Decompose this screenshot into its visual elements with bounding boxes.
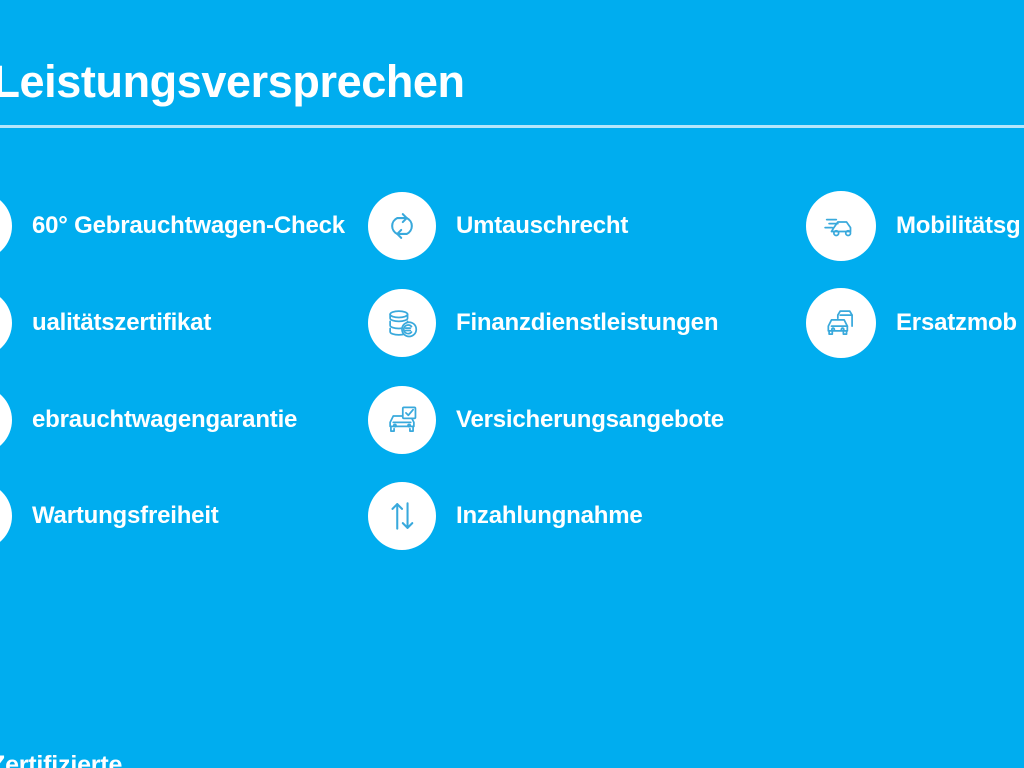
certified-line-1: Zertifizierte [0, 750, 410, 768]
list-item[interactable]: ualitätszertifikat [0, 288, 211, 358]
benefits-grid: 360 60° Gebrauchtwagen-Check ualitätszer… [0, 128, 1024, 768]
slide-canvas: ere Leistungsversprechen 360 60° Gebrauc… [0, 0, 1024, 768]
exchange-arrows-icon [368, 192, 436, 260]
list-item-label: Inzahlungnahme [456, 501, 643, 531]
car-check-document-icon [368, 386, 436, 454]
list-item[interactable]: Wartungsfreiheit [0, 481, 219, 551]
list-item[interactable]: Versicherungsangebote [368, 385, 724, 455]
car-speed-icon [806, 191, 876, 261]
list-item[interactable]: 360 60° Gebrauchtwagen-Check [0, 191, 345, 261]
list-item[interactable]: Ersatzmob [806, 288, 1017, 358]
list-item[interactable]: Finanzdienstleistungen [368, 288, 718, 358]
list-item[interactable]: Mobilitätsg [806, 191, 1020, 261]
list-item-label: 60° Gebrauchtwagen-Check [32, 211, 345, 241]
list-item-label: Versicherungsangebote [456, 405, 724, 435]
list-item-label: Ersatzmob [896, 308, 1017, 338]
list-item-label: ebrauchtwagengarantie [32, 405, 297, 435]
wrench-icon [0, 482, 12, 550]
magnifier-360-icon: 360 [0, 192, 12, 260]
list-item[interactable]: Umtauschrecht [368, 191, 628, 261]
list-item-label: Finanzdienstleistungen [456, 308, 718, 338]
up-down-arrows-icon [368, 482, 436, 550]
shield-car-icon [0, 386, 12, 454]
list-item-label: Wartungsfreiheit [32, 501, 219, 531]
header: ere Leistungsversprechen [0, 0, 1024, 128]
list-item[interactable]: ebrauchtwagengarantie [0, 385, 297, 455]
list-item-label: Mobilitätsg [896, 211, 1020, 241]
certificate-icon [0, 289, 12, 357]
certified-used-cars-block: Zertifizierte Gebrauchtwagen [0, 750, 410, 768]
list-item-label: Umtauschrecht [456, 211, 628, 241]
list-item-label: ualitätszertifikat [32, 308, 211, 338]
coins-euro-icon [368, 289, 436, 357]
list-item[interactable]: Inzahlungnahme [368, 481, 643, 551]
two-cars-icon [806, 288, 876, 358]
page-title: ere Leistungsversprechen [0, 54, 465, 110]
